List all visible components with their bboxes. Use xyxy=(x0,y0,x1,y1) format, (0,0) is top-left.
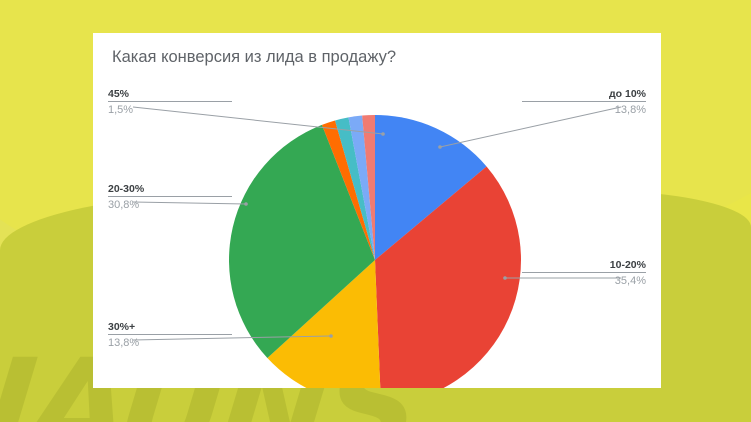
callout-45-value: 1,5% xyxy=(108,102,232,117)
callout-30-plus-value: 13,8% xyxy=(108,335,232,350)
leader-dot-45 xyxy=(381,132,385,136)
callout-10-20-value: 35,4% xyxy=(522,273,646,288)
leader-dot-do-10 xyxy=(438,145,442,149)
callout-45: 45% 1,5% xyxy=(108,88,232,117)
callout-20-30: 20-30% 30,8% xyxy=(108,183,232,212)
callout-20-30-label: 20-30% xyxy=(108,183,232,196)
callout-30-plus: 30%+ 13,8% xyxy=(108,321,232,350)
leader-dot-10-20 xyxy=(503,276,507,280)
callout-10-20-label: 10-20% xyxy=(522,259,646,272)
pie-slice-group xyxy=(229,115,521,388)
slide-canvas: JAUNS Какая конверсия из лида в продажу? xyxy=(0,0,751,422)
callout-do-10-value: 13,8% xyxy=(522,102,646,117)
callout-30-plus-label: 30%+ xyxy=(108,321,232,334)
callout-do-10-label: до 10% xyxy=(522,88,646,101)
leader-dot-30-plus xyxy=(329,334,333,338)
leader-dot-20-30 xyxy=(244,202,248,206)
chart-card: Какая конверсия из лида в продажу? xyxy=(93,33,661,388)
callout-do-10: до 10% 13,8% xyxy=(522,88,646,117)
callout-10-20: 10-20% 35,4% xyxy=(522,259,646,288)
callout-20-30-value: 30,8% xyxy=(108,197,232,212)
callout-45-label: 45% xyxy=(108,88,232,101)
